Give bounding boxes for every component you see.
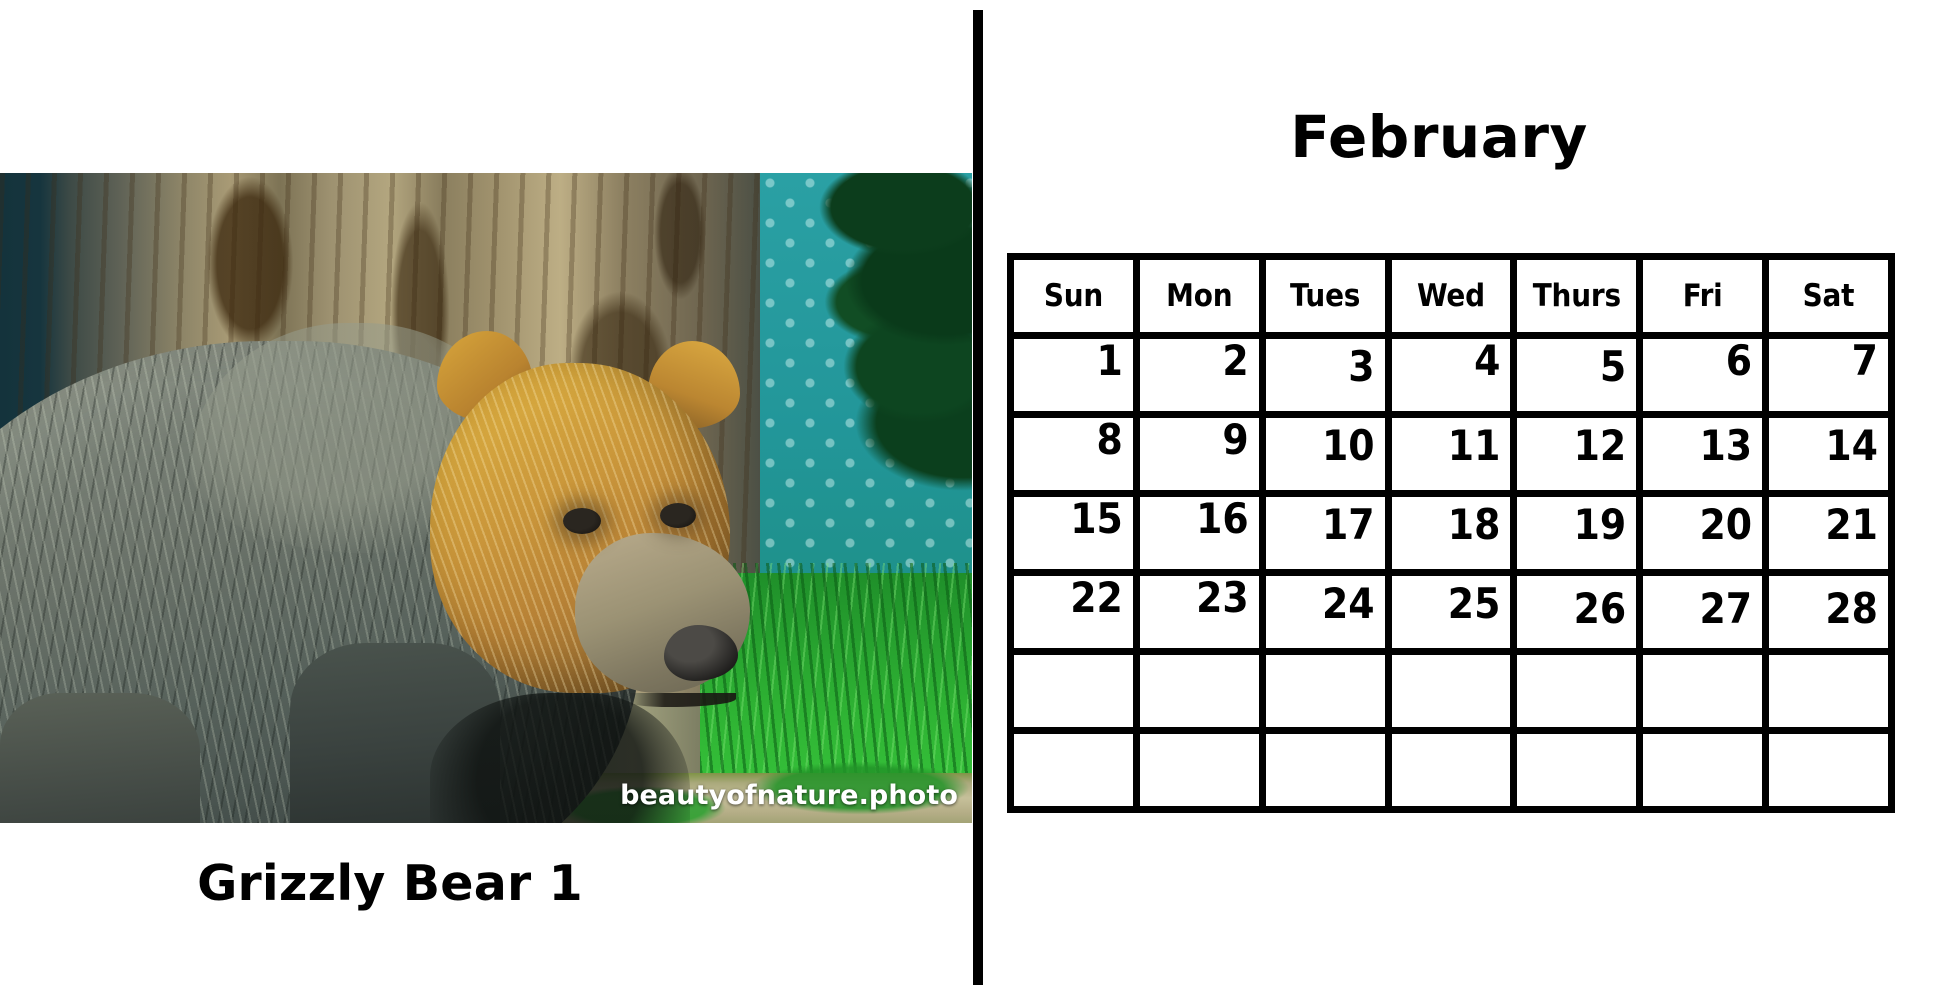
- day-cell[interactable]: [1392, 655, 1518, 734]
- day-cell[interactable]: [1517, 734, 1643, 813]
- weekday-header-sat: Sat: [1769, 260, 1895, 339]
- month-title: February: [983, 103, 1895, 171]
- day-cell[interactable]: 14: [1769, 418, 1895, 497]
- bear-right-eye: [660, 503, 696, 528]
- day-cell[interactable]: 21: [1769, 497, 1895, 576]
- weekday-header-mon: Mon: [1140, 260, 1266, 339]
- day-cell[interactable]: [1266, 734, 1392, 813]
- day-cell[interactable]: 22: [1014, 576, 1140, 655]
- weekday-header-sun: Sun: [1014, 260, 1140, 339]
- day-cell[interactable]: 15: [1014, 497, 1140, 576]
- day-cell[interactable]: 8: [1014, 418, 1140, 497]
- day-cell[interactable]: 17: [1266, 497, 1392, 576]
- day-cell[interactable]: 1: [1014, 339, 1140, 418]
- day-cell[interactable]: 11: [1392, 418, 1518, 497]
- weekday-header-wed: Wed: [1392, 260, 1518, 339]
- day-cell[interactable]: 18: [1392, 497, 1518, 576]
- day-cell[interactable]: 28: [1769, 576, 1895, 655]
- vertical-divider: [973, 10, 983, 985]
- bear-rear-leg: [0, 693, 200, 823]
- day-cell[interactable]: 6: [1643, 339, 1769, 418]
- day-cell[interactable]: [1266, 655, 1392, 734]
- calendar-page: beautyofnature.photo Grizzly Bear 1 Febr…: [0, 0, 1946, 997]
- day-cell[interactable]: 4: [1392, 339, 1518, 418]
- day-cell[interactable]: 20: [1643, 497, 1769, 576]
- bear-photo: beautyofnature.photo: [0, 173, 972, 823]
- day-cell[interactable]: 23: [1140, 576, 1266, 655]
- calendar-week-row: 15 16 17 18 19 20 21: [1014, 497, 1895, 576]
- day-cell[interactable]: [1517, 655, 1643, 734]
- day-cell[interactable]: 25: [1392, 576, 1518, 655]
- bear-left-eye: [563, 508, 601, 534]
- day-cell[interactable]: 24: [1266, 576, 1392, 655]
- weekday-header-fri: Fri: [1643, 260, 1769, 339]
- day-cell[interactable]: 2: [1140, 339, 1266, 418]
- day-cell[interactable]: 9: [1140, 418, 1266, 497]
- day-cell[interactable]: [1140, 655, 1266, 734]
- day-cell[interactable]: 26: [1517, 576, 1643, 655]
- day-cell[interactable]: [1769, 655, 1895, 734]
- day-cell[interactable]: 7: [1769, 339, 1895, 418]
- photo-caption: Grizzly Bear 1: [0, 855, 780, 912]
- calendar-grid: Sun Mon Tues Wed Thurs Fri Sat 1 2 3 4 5…: [1007, 253, 1895, 813]
- photo-panel: beautyofnature.photo Grizzly Bear 1: [0, 0, 973, 997]
- calendar-week-row: [1014, 734, 1895, 813]
- day-cell[interactable]: [1014, 734, 1140, 813]
- day-cell[interactable]: [1140, 734, 1266, 813]
- day-cell[interactable]: [1643, 655, 1769, 734]
- day-cell[interactable]: 10: [1266, 418, 1392, 497]
- day-cell[interactable]: 16: [1140, 497, 1266, 576]
- weekday-header-thurs: Thurs: [1517, 260, 1643, 339]
- day-cell[interactable]: 3: [1266, 339, 1392, 418]
- conifer-foliage: [800, 173, 972, 603]
- calendar-week-row: 22 23 24 25 26 27 28: [1014, 576, 1895, 655]
- photo-watermark: beautyofnature.photo: [620, 780, 958, 811]
- day-cell[interactable]: [1643, 734, 1769, 813]
- calendar-week-row: 8 9 10 11 12 13 14: [1014, 418, 1895, 497]
- day-cell[interactable]: 5: [1517, 339, 1643, 418]
- calendar-week-row: [1014, 655, 1895, 734]
- calendar-header-row-group: Sun Mon Tues Wed Thurs Fri Sat: [1014, 260, 1895, 339]
- day-cell[interactable]: 27: [1643, 576, 1769, 655]
- day-cell[interactable]: [1014, 655, 1140, 734]
- day-cell[interactable]: 13: [1643, 418, 1769, 497]
- day-cell[interactable]: [1769, 734, 1895, 813]
- weekday-header-tues: Tues: [1266, 260, 1392, 339]
- day-cell[interactable]: 12: [1517, 418, 1643, 497]
- calendar-body: 1 2 3 4 5 6 7 8 9 10 11 12 13 14: [1014, 339, 1895, 813]
- day-cell[interactable]: 19: [1517, 497, 1643, 576]
- calendar-week-row: 1 2 3 4 5 6 7: [1014, 339, 1895, 418]
- day-cell[interactable]: [1392, 734, 1518, 813]
- calendar-panel: February Sun Mon Tues Wed Thurs Fri Sat …: [983, 0, 1946, 997]
- weekday-header-row: Sun Mon Tues Wed Thurs Fri Sat: [1014, 260, 1895, 339]
